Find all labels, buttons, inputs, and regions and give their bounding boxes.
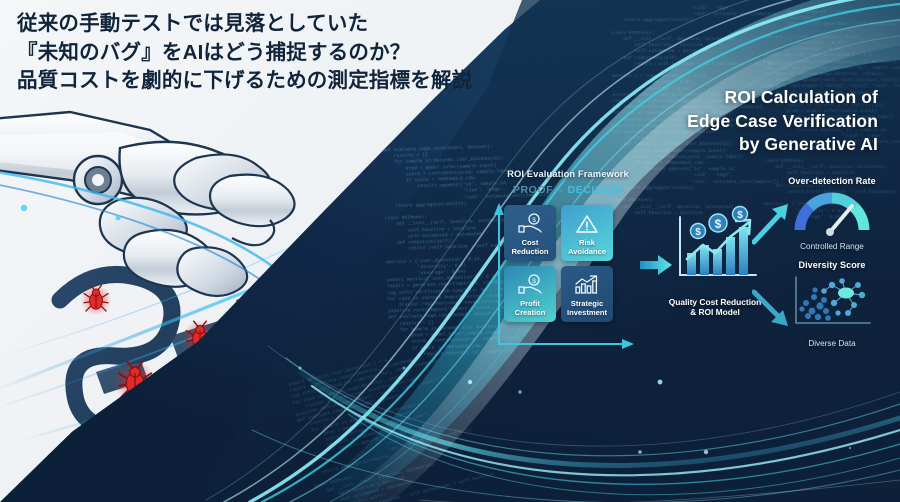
quadrant-label-line2: Avoidance xyxy=(568,247,606,256)
quadrant-label-line2: Investment xyxy=(567,308,607,317)
scatter-network-icon xyxy=(784,273,880,333)
hand-coin-icon: $ xyxy=(517,212,543,236)
metric-diversity-score: Diversity Score Diverse Data xyxy=(772,260,892,348)
svg-text:$: $ xyxy=(532,217,536,224)
headline-line-1: 従来の手動テストでは見落としていた xyxy=(17,10,487,39)
model-label-line1: Quality Cost Reduction xyxy=(669,297,762,307)
bar-chart-arrow-icon xyxy=(574,273,600,297)
quadrant-label: Profit Creation xyxy=(515,299,546,317)
quadrant-cost-reduction[interactable]: $ Cost Reduction xyxy=(504,205,556,261)
quadrant-label-line1: Profit xyxy=(520,299,540,308)
headline-line-3: 品質コストを劇的に下げるための測定指標を解説 xyxy=(17,67,487,96)
framework-horizontal-axis-arrow xyxy=(496,338,636,350)
metric-over-detection-rate: Over-detection Rate Controlled Range xyxy=(770,176,894,251)
model-label-line2: & ROI Model xyxy=(690,307,740,317)
headline: 従来の手動テストでは見落としていた 『未知のバグ』をAIはどう捕捉するのか？ 品… xyxy=(17,10,487,96)
axis-label-proof: PROOF xyxy=(513,184,553,196)
metric-title: Over-detection Rate xyxy=(770,176,894,186)
quadrant-label-line1: Strategic xyxy=(571,299,604,308)
framework-title: ROI Evaluation Framework xyxy=(492,168,644,179)
quadrant-strategic-investment[interactable]: Strategic Investment xyxy=(561,266,613,322)
warning-triangle-icon xyxy=(575,212,599,236)
svg-text:$: $ xyxy=(695,227,701,238)
svg-text:$: $ xyxy=(715,217,722,231)
quadrant-label-line1: Risk xyxy=(579,238,595,247)
axis-label-decision: DECISION xyxy=(568,184,624,196)
headline-line-2: 『未知のバグ』をAIはどう捕捉するのか？ xyxy=(17,39,487,68)
infographic-canvas: def evaluate_edge_case(model, dataset): … xyxy=(0,0,900,502)
svg-text:$: $ xyxy=(737,210,743,221)
quadrant-label: Risk Avoidance xyxy=(568,238,606,256)
english-title: ROI Calculation of Edge Case Verificatio… xyxy=(518,86,878,157)
metric-title: Diversity Score xyxy=(772,260,892,270)
quadrant-label-line2: Reduction xyxy=(511,247,548,256)
axis-operator: × xyxy=(558,186,562,195)
quadrant-label-line2: Creation xyxy=(515,308,546,317)
english-title-line-3: by Generative AI xyxy=(518,133,878,157)
roi-evaluation-framework: ROI Evaluation Framework PROOF × DECISIO… xyxy=(492,168,644,346)
english-title-line-2: Edge Case Verification xyxy=(518,110,878,134)
gauge-icon xyxy=(790,188,874,236)
framework-quadrant-grid: $ Cost Reduction xyxy=(504,205,613,322)
quadrant-profit-creation[interactable]: $ Profit Creation xyxy=(504,266,556,322)
quadrant-label-line1: Cost xyxy=(522,238,539,247)
quadrant-label: Cost Reduction xyxy=(511,238,548,256)
quadrant-label: Strategic Investment xyxy=(567,299,607,317)
metric-caption: Controlled Range xyxy=(770,242,894,251)
framework-axis-labels: PROOF × DECISION xyxy=(492,184,644,196)
svg-text:$: $ xyxy=(532,278,536,285)
metric-caption: Diverse Data xyxy=(772,339,892,348)
quadrant-risk-avoidance[interactable]: Risk Avoidance xyxy=(561,205,613,261)
hand-coin-icon: $ xyxy=(517,273,543,297)
english-title-line-1: ROI Calculation of xyxy=(518,86,878,110)
